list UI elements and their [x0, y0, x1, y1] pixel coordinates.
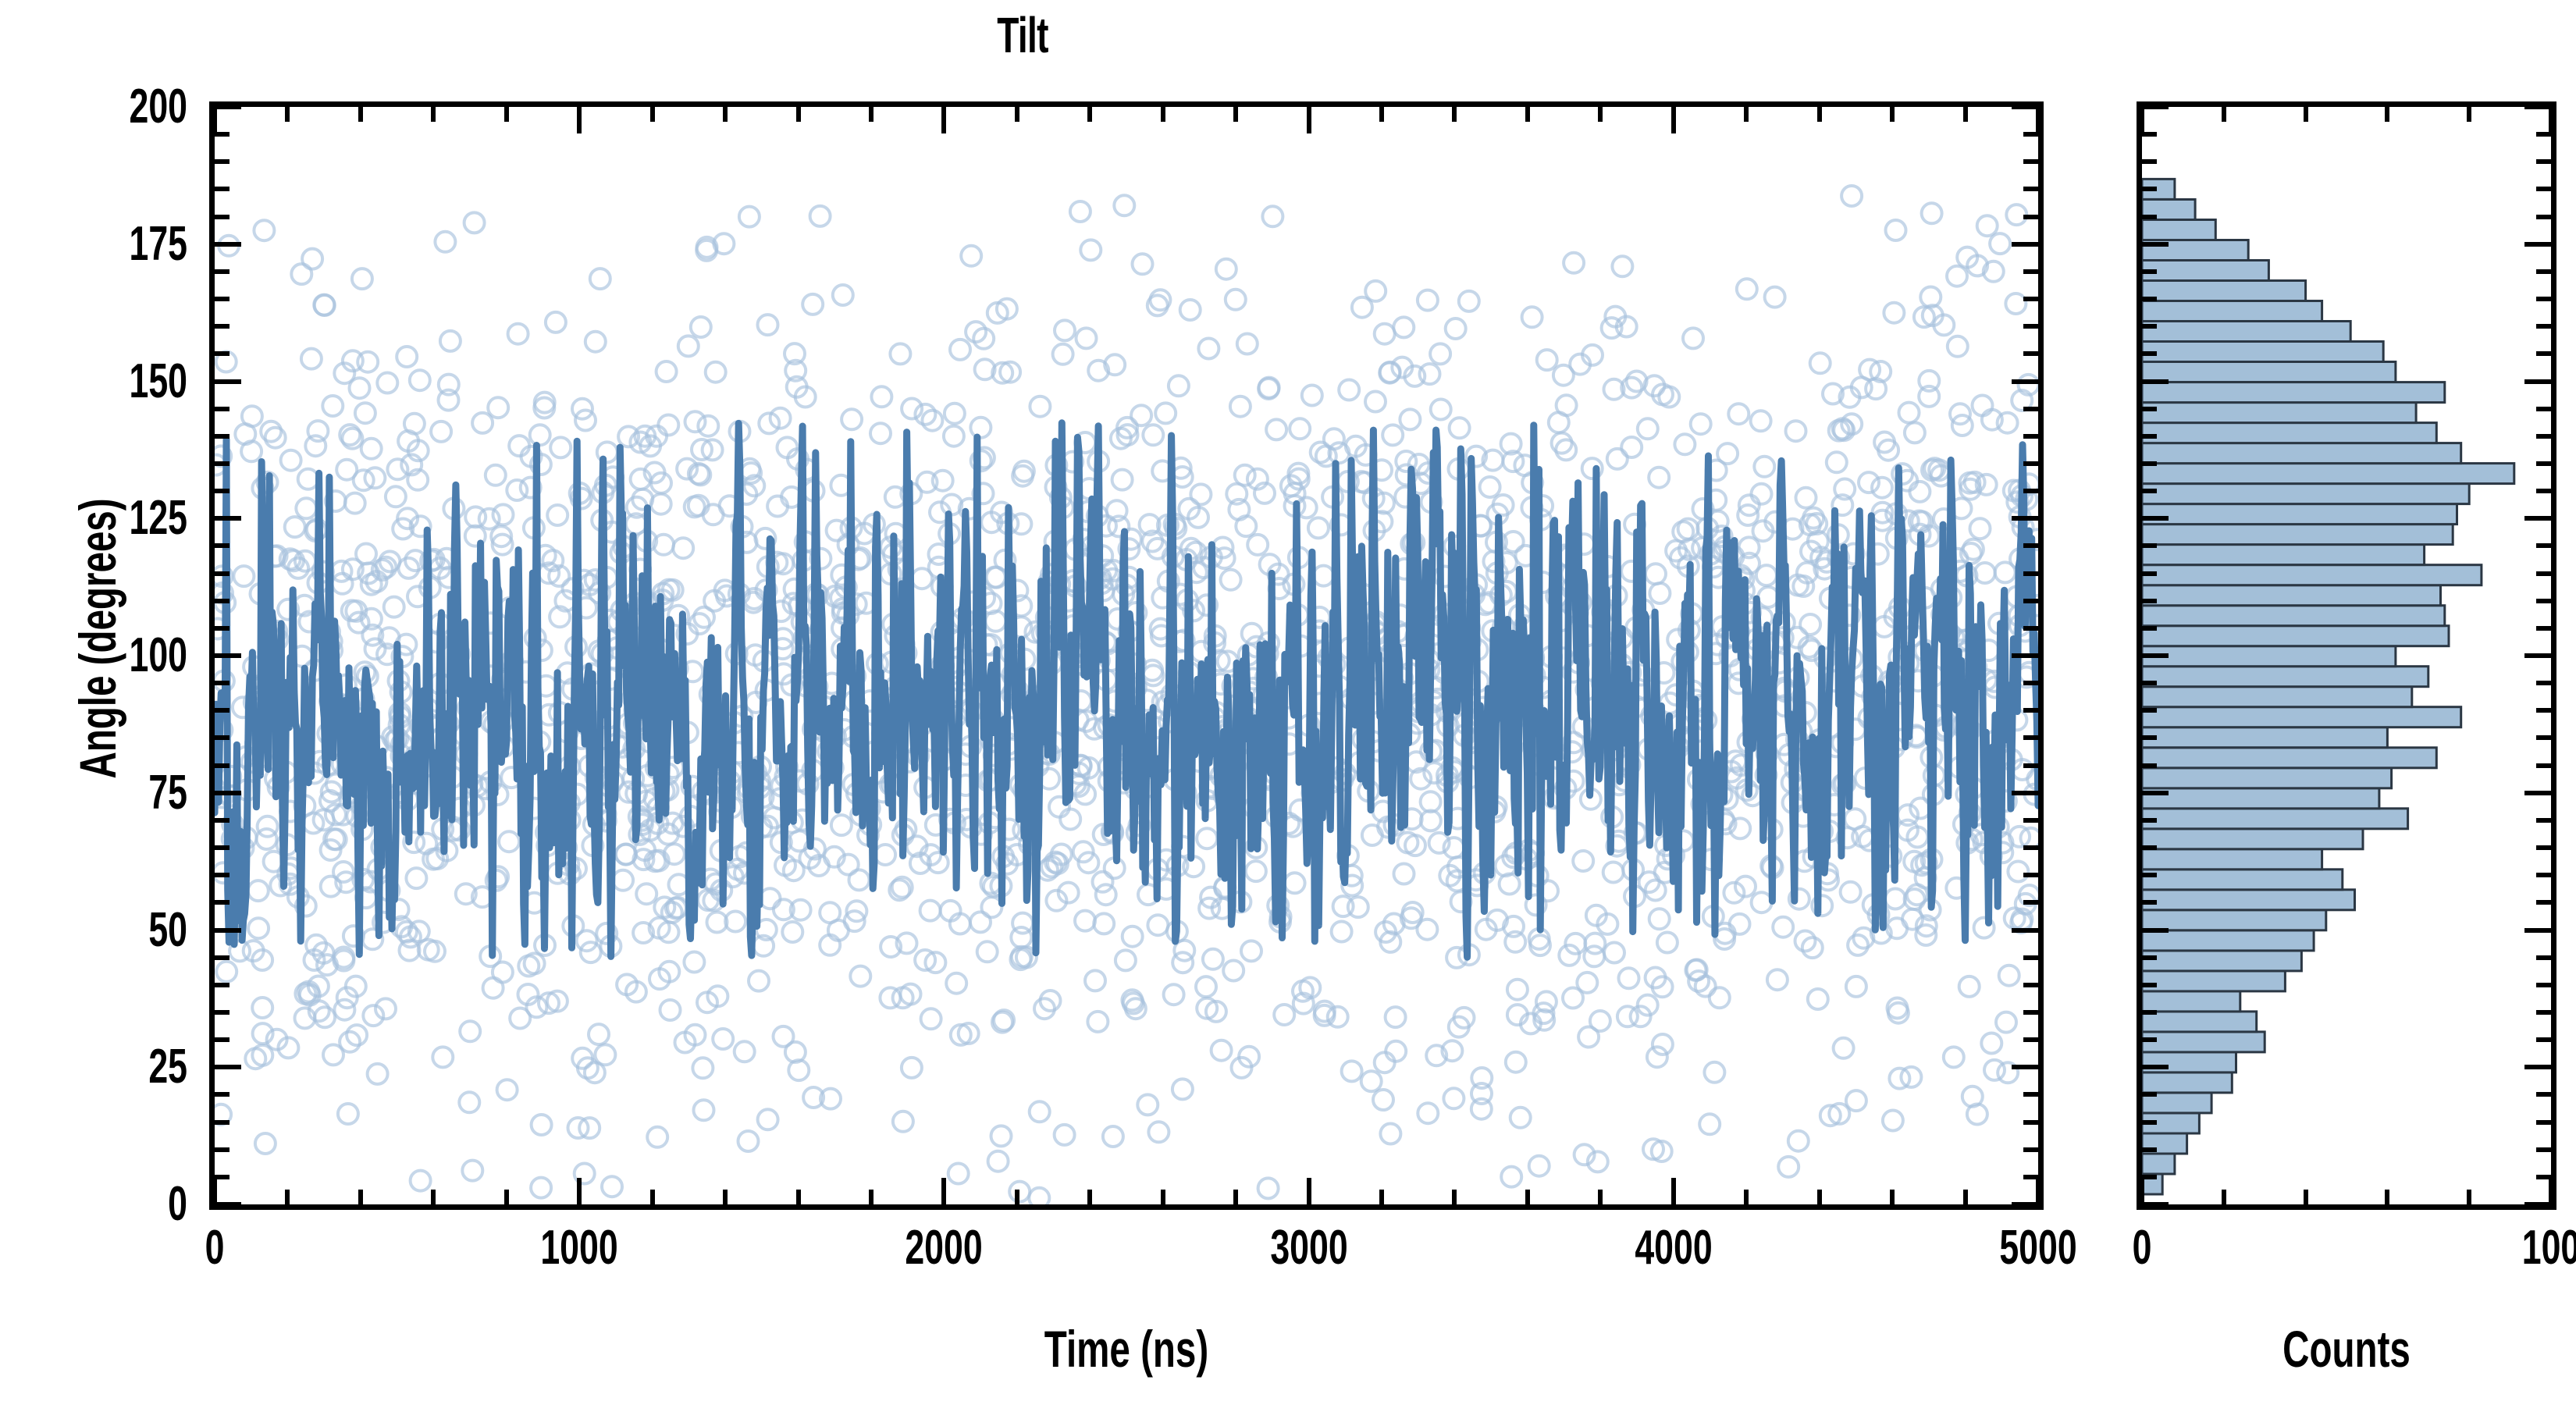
histogram-bar	[2142, 687, 2412, 707]
histogram-bar	[2142, 504, 2457, 525]
histogram-bar	[2142, 910, 2326, 930]
histogram-bar	[2142, 301, 2322, 322]
histogram-bar	[2142, 585, 2441, 606]
histogram-bar	[2142, 1032, 2265, 1052]
histogram-bar	[2142, 626, 2449, 646]
histogram-bar	[2142, 930, 2314, 951]
histogram-x-axis-title: Counts	[2195, 1319, 2497, 1378]
histogram-bar	[2142, 423, 2436, 443]
histogram-bar	[2142, 403, 2416, 423]
x-tick-label: 3000	[1270, 1224, 1347, 1272]
histogram-bar	[2142, 707, 2461, 727]
histogram-bar	[2142, 545, 2425, 565]
histogram-bar	[2142, 322, 2350, 342]
histogram-bar	[2142, 281, 2306, 301]
histogram-bar	[2142, 768, 2392, 788]
y-axis-title: Angle (degrees)	[68, 240, 127, 1037]
histogram-bar	[2142, 748, 2436, 768]
angle-histogram-plot-area	[2142, 107, 2551, 1204]
histogram-bar	[2142, 200, 2195, 220]
histogram-bar	[2142, 464, 2514, 484]
histogram-bar	[2142, 991, 2240, 1012]
histogram-bar	[2142, 1072, 2232, 1093]
histogram-bar	[2142, 727, 2387, 748]
histogram-x-tick-label: 0	[2133, 1224, 2152, 1272]
histogram-bar	[2142, 484, 2469, 504]
histogram-bar	[2142, 342, 2383, 362]
histogram-bar	[2142, 870, 2343, 890]
x-tick-label: 4000	[1635, 1224, 1712, 1272]
histogram-bar	[2142, 829, 2363, 849]
histogram-bar	[2142, 565, 2482, 585]
histogram-bar	[2142, 261, 2268, 281]
histogram-bar	[2142, 1113, 2199, 1133]
y-tick-label: 200	[61, 83, 187, 131]
histogram-bar	[2142, 1052, 2236, 1072]
histogram-bar	[2142, 179, 2175, 199]
y-tick-label: 25	[61, 1043, 187, 1091]
histogram-bar	[2142, 606, 2445, 626]
x-tick-label: 5000	[1999, 1224, 2076, 1272]
histogram-bar	[2142, 525, 2453, 545]
time-series-plot-area	[215, 107, 2038, 1204]
histogram-bar	[2142, 1133, 2187, 1154]
x-axis-tick-labels: 010002000300040005000	[209, 1224, 2044, 1294]
histogram-bar	[2142, 971, 2285, 991]
x-tick-label: 2000	[906, 1224, 983, 1272]
x-axis-title: Time (ns)	[466, 1319, 1787, 1378]
histogram-bar	[2142, 1093, 2211, 1113]
histogram-bar	[2142, 646, 2396, 667]
histogram-bar	[2142, 849, 2322, 870]
histogram-bar	[2142, 809, 2408, 829]
page-title: Tilt	[286, 6, 1759, 64]
figure-canvas: Tilt 0255075100125150175200 010002000300…	[0, 0, 2576, 1405]
x-tick-label: 0	[205, 1224, 225, 1272]
angle-histogram-panel	[2137, 101, 2556, 1210]
histogram-bar	[2142, 240, 2248, 261]
histogram-x-tick-label: 100	[2522, 1224, 2576, 1272]
time-series-panel	[209, 101, 2044, 1210]
histogram-bar	[2142, 362, 2396, 382]
histogram-bar	[2142, 788, 2379, 809]
histogram-bar	[2142, 890, 2355, 910]
histogram-bar	[2142, 667, 2428, 687]
histogram-bar	[2142, 443, 2461, 464]
histogram-bar	[2142, 1154, 2175, 1174]
histogram-bar	[2142, 382, 2445, 403]
histogram-bar	[2142, 1012, 2257, 1032]
y-tick-label: 0	[61, 1180, 187, 1229]
histogram-bar	[2142, 220, 2215, 240]
histogram-bar	[2142, 1174, 2162, 1194]
x-tick-label: 1000	[541, 1224, 618, 1272]
histogram-x-axis-tick-labels: 0100	[2137, 1224, 2556, 1294]
histogram-bar	[2142, 951, 2301, 971]
